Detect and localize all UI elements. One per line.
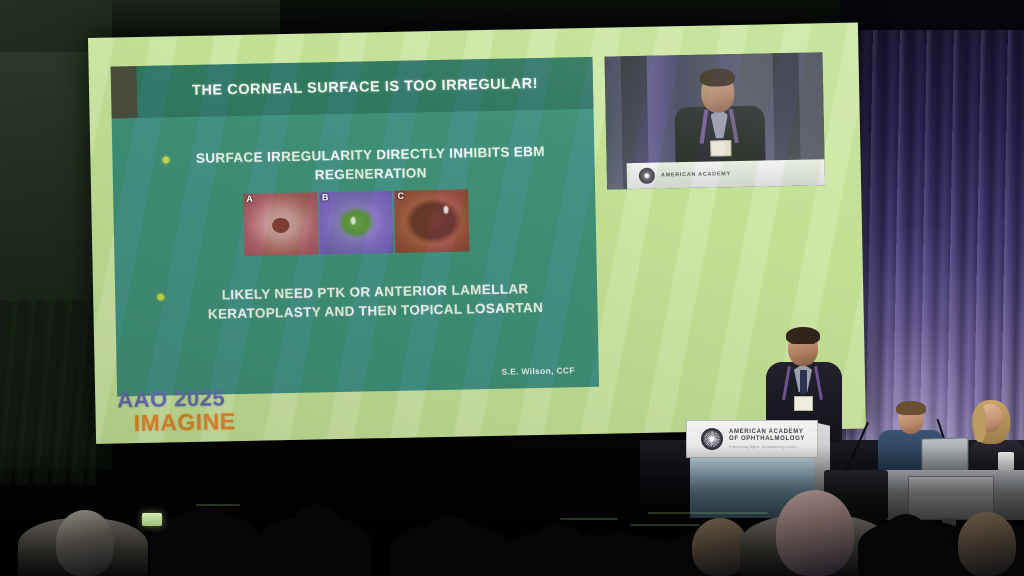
audience-head <box>880 514 932 576</box>
slide-bullet-2-text: LIKELY NEED PTK OR ANTERIOR LAMELLAR KER… <box>173 279 578 324</box>
aao-imagine-logo: AAO 2025 IMAGINE <box>117 385 338 435</box>
audience-head <box>56 510 114 576</box>
photo-c-glint <box>443 206 448 214</box>
presentation-slide: THE CORNEAL SURFACE IS TOO IRREGULAR! SU… <box>111 57 600 397</box>
corneal-photo-a: A <box>243 192 318 255</box>
panelist-right-hair-front <box>974 406 986 442</box>
left-wall-panel-upper <box>0 52 96 302</box>
bullet-dot-icon <box>162 156 169 163</box>
slide-bullet-1: SURFACE IRREGULARITY DIRECTLY INHIBITS E… <box>162 143 563 188</box>
seat-edge-glow <box>630 524 700 526</box>
speaker-glasses <box>791 343 815 350</box>
aao-starburst-icon <box>639 168 655 184</box>
seat-edge-glow <box>560 518 618 520</box>
audience-head <box>288 504 344 576</box>
corneal-photo-figure: A B C <box>243 189 469 256</box>
video-speaker-hair <box>700 68 735 87</box>
lectern-org-line1: AMERICAN ACADEMY <box>729 429 805 437</box>
panelist-left-hair <box>896 401 926 415</box>
logo-imagine: IMAGINE <box>118 408 338 435</box>
speaker-tie <box>800 370 807 394</box>
audience-head <box>420 516 478 576</box>
slide-bullet-1-text: SURFACE IRREGULARITY DIRECTLY INHIBITS E… <box>178 143 563 188</box>
audience-head <box>178 506 232 576</box>
slide-title-bar: THE CORNEAL SURFACE IS TOO IRREGULAR! <box>137 57 594 118</box>
audience-head <box>958 512 1016 576</box>
figure-label-c: C <box>397 191 404 201</box>
corneal-photo-b: B <box>319 191 394 254</box>
audience-head <box>776 490 854 576</box>
attendee-phone-screen <box>142 513 162 526</box>
slide-credit: S.E. Wilson, CCF <box>501 365 574 376</box>
bullet-dot-icon <box>157 294 164 301</box>
lectern-org-line2: OF OPHTHALMOLOGY <box>729 436 805 444</box>
slide-left-notch <box>111 66 138 119</box>
video-podium-text: AMERICAN ACADEMY <box>661 171 731 178</box>
conference-room-scene: THE CORNEAL SURFACE IS TOO IRREGULAR! SU… <box>0 0 1024 576</box>
photo-b-glint <box>350 216 355 224</box>
audience-silhouettes <box>0 446 1024 576</box>
figure-label-b: B <box>322 192 329 202</box>
projection-screen: THE CORNEAL SURFACE IS TOO IRREGULAR! SU… <box>88 23 866 444</box>
slide-bullet-2: LIKELY NEED PTK OR ANTERIOR LAMELLAR KER… <box>157 279 578 325</box>
corneal-photo-c: C <box>394 189 469 252</box>
figure-label-a: A <box>246 194 253 204</box>
slide-body: SURFACE IRREGULARITY DIRECTLY INHIBITS E… <box>112 109 599 397</box>
video-speaker-badge <box>710 140 731 156</box>
live-speaker-video-inset: AMERICAN ACADEMY <box>604 52 825 189</box>
audience-head <box>594 532 644 576</box>
seat-edge-glow <box>648 512 768 514</box>
speaker-badge <box>794 396 813 411</box>
speaker-hair <box>786 327 820 344</box>
slide-title: THE CORNEAL SURFACE IS TOO IRREGULAR! <box>192 76 538 99</box>
video-podium: AMERICAN ACADEMY <box>627 159 825 189</box>
